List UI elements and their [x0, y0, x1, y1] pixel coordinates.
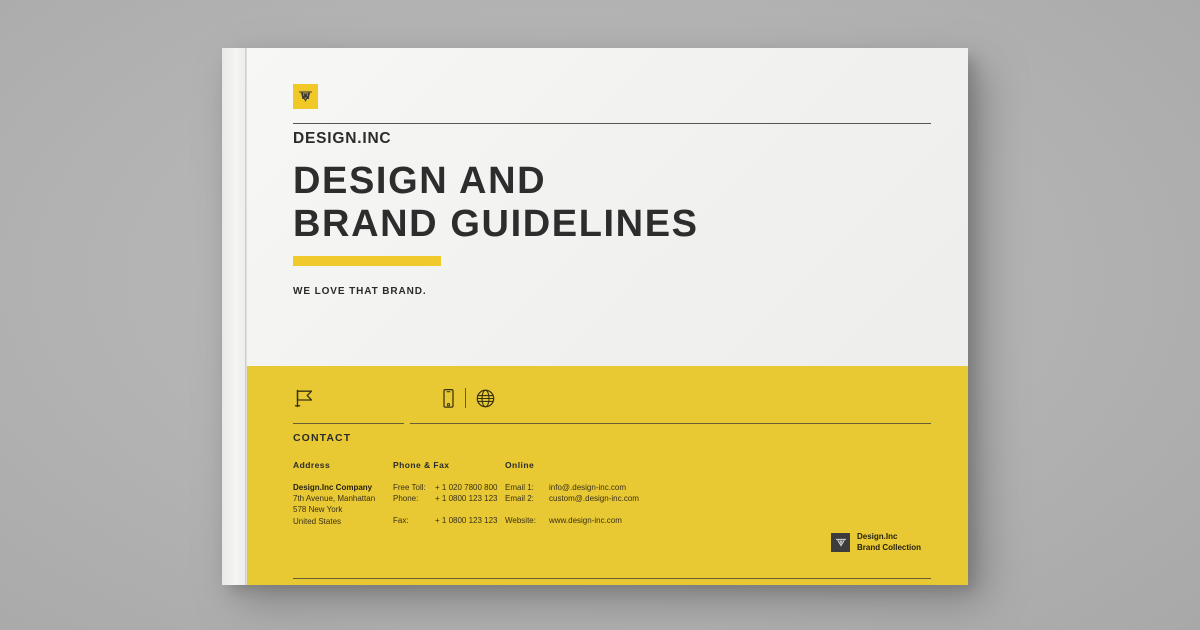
address-line: Design.Inc Company — [293, 482, 375, 493]
contact-row: Fax: + 1 0800 123 123 — [393, 515, 498, 526]
column-heading: Phone & Fax — [393, 460, 498, 470]
contact-label: Email 1: — [505, 482, 549, 493]
icon-row — [293, 378, 931, 418]
footer-divider — [293, 578, 931, 579]
contact-value[interactable]: + 1 020 7800 800 — [435, 482, 498, 493]
contact-row: Email 1: info@.design-inc.com — [505, 482, 639, 493]
email-value[interactable]: custom@.design-inc.com — [549, 493, 639, 504]
row-spacer — [393, 504, 498, 515]
address-block: Design.Inc Company 7th Avenue, Manhattan… — [293, 482, 375, 527]
crown-w-logo-icon — [831, 533, 850, 552]
scene-backdrop: DESIGN.INC DESIGN AND BRAND GUIDELINES W… — [0, 0, 1200, 630]
contact-section-title: CONTACT — [293, 432, 351, 444]
website-value[interactable]: www.design-inc.com — [549, 515, 622, 526]
device-icon-group — [441, 378, 496, 418]
cover-page: DESIGN.INC DESIGN AND BRAND GUIDELINES W… — [247, 48, 968, 585]
mobile-phone-icon — [441, 387, 456, 410]
contact-divider-right — [410, 423, 931, 424]
address-line: 7th Avenue, Manhattan — [293, 493, 375, 504]
contact-row: Website: www.design-inc.com — [505, 515, 639, 526]
contact-row: Free Toll: + 1 020 7800 800 — [393, 482, 498, 493]
contact-label: Free Toll: — [393, 482, 435, 493]
brand-name: DESIGN.INC — [293, 130, 391, 148]
crown-w-logo-icon — [293, 84, 318, 109]
booklet-spine-fold — [245, 48, 247, 585]
brand-collection-badge: Design.Inc Brand Collection — [831, 532, 921, 553]
address-line: United States — [293, 516, 375, 527]
globe-icon — [475, 388, 496, 409]
contact-label: Website: — [505, 515, 549, 526]
header-divider — [293, 123, 931, 124]
online-block: Email 1: info@.design-inc.com Email 2: c… — [505, 482, 639, 527]
accent-bar — [293, 256, 441, 266]
brochure-cover: DESIGN.INC DESIGN AND BRAND GUIDELINES W… — [222, 48, 968, 585]
address-line: 578 New York — [293, 504, 375, 515]
cover-upper-section: DESIGN.INC DESIGN AND BRAND GUIDELINES W… — [247, 48, 968, 366]
phone-block: Free Toll: + 1 020 7800 800 Phone: + 1 0… — [393, 482, 498, 527]
contact-row: Email 2: custom@.design-inc.com — [505, 493, 639, 504]
contact-column-address: Address Design.Inc Company 7th Avenue, M… — [293, 460, 375, 527]
contact-label: Fax: — [393, 515, 435, 526]
contact-value[interactable]: + 1 0800 123 123 — [435, 493, 498, 504]
cover-lower-section: CONTACT Address Design.Inc Company 7th A… — [247, 366, 968, 585]
contact-value[interactable]: + 1 0800 123 123 — [435, 515, 498, 526]
booklet-spine — [222, 48, 245, 585]
icon-separator — [465, 388, 466, 408]
contact-divider-left — [293, 423, 404, 424]
contact-column-online: Online Email 1: info@.design-inc.com Ema… — [505, 460, 639, 527]
email-value[interactable]: info@.design-inc.com — [549, 482, 626, 493]
badge-label: Design.Inc Brand Collection — [857, 532, 921, 553]
column-heading: Online — [505, 460, 639, 470]
page-title: DESIGN AND BRAND GUIDELINES — [293, 160, 699, 246]
contact-column-phone-fax: Phone & Fax Free Toll: + 1 020 7800 800 … — [393, 460, 498, 527]
contact-row: Phone: + 1 0800 123 123 — [393, 493, 498, 504]
contact-label: Phone: — [393, 493, 435, 504]
tagline: WE LOVE THAT BRAND. — [293, 286, 427, 297]
contact-label: Email 2: — [505, 493, 549, 504]
flag-icon — [293, 378, 316, 418]
column-heading: Address — [293, 460, 375, 470]
row-spacer — [505, 504, 639, 515]
